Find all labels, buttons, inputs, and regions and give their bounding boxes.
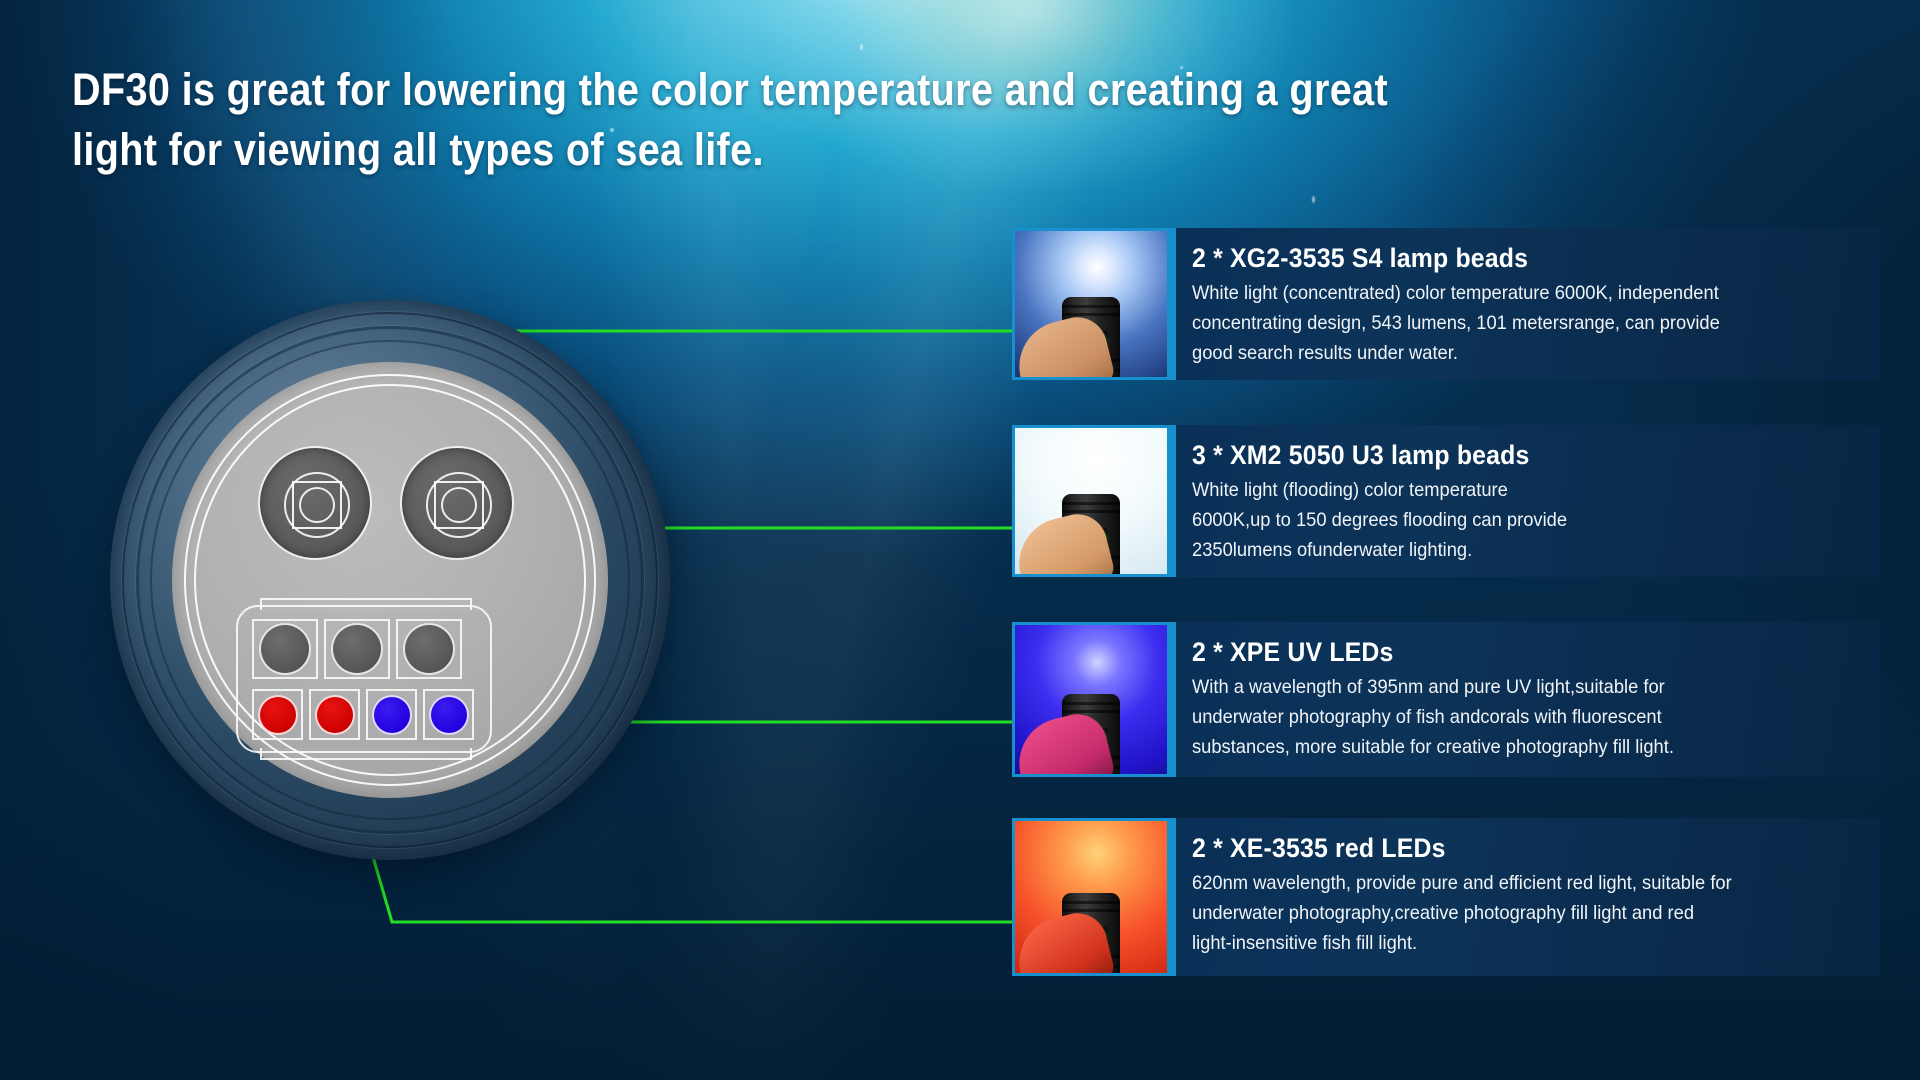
card-title: 2 * XE-3535 red LEDs (1192, 832, 1805, 864)
torch-band (1062, 502, 1120, 505)
card-body: 2 * XE-3535 red LEDs 620nm wavelength, p… (1170, 818, 1880, 976)
info-card-uv: 2 * XPE UV LEDs With a wavelength of 395… (1012, 622, 1880, 777)
torch-band (1062, 313, 1120, 316)
card-title: 3 * XM2 5050 U3 lamp beads (1192, 439, 1805, 471)
uv-led-bead (372, 695, 412, 735)
beam-scene (1015, 625, 1167, 774)
uv-led-cell (423, 689, 474, 740)
card-title: 2 * XG2-3535 S4 lamp beads (1192, 242, 1805, 274)
white-led-bead (331, 623, 383, 675)
torch-band (1062, 702, 1120, 705)
card-thumbnail (1012, 425, 1170, 577)
beam-scene (1015, 821, 1167, 973)
reflector-left (258, 446, 372, 560)
card-thumbnail (1012, 818, 1170, 976)
white-led-cell (252, 619, 318, 679)
card-title: 2 * XPE UV LEDs (1192, 636, 1805, 668)
flashlight-head-diagram (110, 300, 690, 880)
card-body: 2 * XG2-3535 S4 lamp beads White light (… (1170, 228, 1880, 380)
particle (860, 44, 863, 50)
torch-band (1062, 710, 1120, 713)
torch-band (1062, 305, 1120, 308)
white-led-row (252, 619, 462, 679)
torch-band (1062, 901, 1120, 904)
info-card-red: 2 * XE-3535 red LEDs 620nm wavelength, p… (1012, 818, 1880, 976)
red-led-bead (258, 695, 298, 735)
card-body: 3 * XM2 5050 U3 lamp beads White light (… (1170, 425, 1880, 577)
white-led-cell (324, 619, 390, 679)
red-led-bead (315, 695, 355, 735)
module-tab-bottom (260, 748, 472, 760)
torch-band (1062, 909, 1120, 912)
page-headline: DF30 is great for lowering the color tem… (72, 60, 1436, 180)
card-body: 2 * XPE UV LEDs With a wavelength of 395… (1170, 622, 1880, 777)
white-led-bead (259, 623, 311, 675)
beam-scene (1015, 428, 1167, 574)
uv-led-cell (366, 689, 417, 740)
white-led-cell (396, 619, 462, 679)
card-thumbnail (1012, 228, 1170, 380)
card-description: White light (concentrated) color tempera… (1192, 278, 1818, 368)
reflector-center-dot (441, 487, 477, 523)
torch-band (1062, 510, 1120, 513)
led-module (236, 605, 492, 753)
module-tab-top (260, 598, 472, 610)
particle (1312, 196, 1315, 203)
reflector-right (400, 446, 514, 560)
red-led-cell (252, 689, 303, 740)
color-led-row (252, 689, 474, 740)
card-thumbnail (1012, 622, 1170, 777)
reflector-center-dot (299, 487, 335, 523)
info-card-flood: 3 * XM2 5050 U3 lamp beads White light (… (1012, 425, 1880, 577)
white-led-bead (403, 623, 455, 675)
red-led-cell (309, 689, 360, 740)
beam-scene (1015, 231, 1167, 377)
info-card-concentrated: 2 * XG2-3535 S4 lamp beads White light (… (1012, 228, 1880, 380)
card-description: 620nm wavelength, provide pure and effic… (1192, 868, 1818, 958)
infographic-canvas: DF30 is great for lowering the color tem… (0, 0, 1920, 1080)
card-description: White light (flooding) color temperature… (1192, 475, 1818, 565)
card-description: With a wavelength of 395nm and pure UV l… (1192, 672, 1818, 762)
uv-led-bead (429, 695, 469, 735)
